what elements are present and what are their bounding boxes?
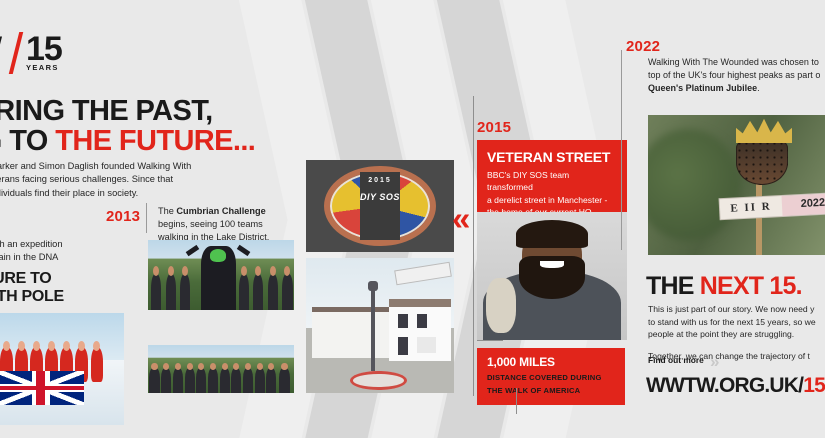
headline-line-1: OURING THE PAST, xyxy=(0,96,372,126)
roundel-mosaic: DIY SOS xyxy=(324,166,436,247)
next-15-heading-red: NEXT 15. xyxy=(700,272,802,300)
jubilee-bold: Queen's Platinum Jubilee xyxy=(648,83,757,93)
cumbrian-challenge-bold: Cumbrian Challenge xyxy=(176,206,265,216)
veteran-street-body-line-2: a derelict street in Manchester - xyxy=(487,195,607,205)
cumbrian-prefix: The xyxy=(158,206,176,216)
wwtw-logo: WALKING W WOUNDED 15 YEARS xyxy=(0,26,80,78)
cumbrian-challenge-photo-bottom xyxy=(148,345,294,393)
page-title: OURING THE PAST, ING TO THE FUTURE... xyxy=(0,96,372,156)
jubilee-sign-right: 2022 xyxy=(781,193,825,216)
jubilee-line-1: Walking With The Wounded was chosen to xyxy=(648,57,819,67)
jubilee-sign-left: E II R xyxy=(720,200,783,215)
miles-caption-line-1: DISTANCE COVERED DURING xyxy=(487,373,602,382)
veteran-street-body-line-1: BBC's DIY SOS team transformed xyxy=(487,170,569,192)
poster-canvas: WALKING W WOUNDED 15 YEARS OURING THE PA… xyxy=(0,0,825,438)
jubilee-line-2: top of the UK's four highest peaks as pa… xyxy=(648,70,820,80)
next-15-p1-line-3: people at the point they are struggling. xyxy=(648,329,794,339)
website-url-path: 15YEA xyxy=(803,374,825,397)
timeline-vertical-line-centre xyxy=(473,96,474,396)
timeline-year-2022: 2022 xyxy=(626,38,660,55)
photo-hair xyxy=(516,220,588,248)
logo-anniversary-years-label: YEARS xyxy=(26,63,62,72)
miles-stat-value: 1,000 MILES xyxy=(487,355,615,369)
photo-smile xyxy=(540,261,564,269)
cumbrian-line-2: begins, seeing 100 teams xyxy=(158,219,263,229)
jubilee-beacon-photo: E II R 2022 xyxy=(648,115,825,255)
intro-line-1: rans Ed Parker and Simon Daglish founded… xyxy=(0,160,286,173)
veteran-portrait-photo xyxy=(477,212,627,340)
next-15-body: This is just part of our story. We now n… xyxy=(648,303,825,362)
photo-beacon-basket xyxy=(736,140,788,185)
logo-anniversary-number: 15 xyxy=(26,32,62,66)
timeline-year-2015: 2015 xyxy=(477,119,511,136)
photo-beacon-pole xyxy=(756,179,762,255)
timeline-text-2013: The Cumbrian Challenge begins, seeing 10… xyxy=(158,205,298,245)
find-out-more-label[interactable]: Find out more xyxy=(648,355,704,365)
diy-sos-roundel-photo: DIY SOS xyxy=(306,160,454,252)
cumbrian-challenge-photo-top xyxy=(148,240,294,310)
intro-line-2: power veterans facing serious challenges… xyxy=(0,173,286,186)
photo-terrace-row-right xyxy=(389,299,451,361)
intro-paragraph: rans Ed Parker and Simon Daglish founded… xyxy=(0,160,286,200)
next-15-heading-dark: THE xyxy=(646,272,700,300)
veteran-street-title: VETERAN STREET xyxy=(487,149,617,165)
photo-celebrating-walker xyxy=(201,246,236,310)
headline-line-2-dark: ING TO xyxy=(0,125,55,157)
next-15-p1-line-2: to stand with us for the next 15 years, … xyxy=(648,317,816,327)
timeline-tick-2018 xyxy=(477,340,503,341)
timeline-year-2018: 2018 xyxy=(477,392,509,408)
north-pole-photo xyxy=(0,313,124,425)
union-jack-flag-icon xyxy=(0,371,84,405)
website-url[interactable]: WWTW.ORG.UK/15YEA xyxy=(646,374,825,398)
next-15-paragraph-1: This is just part of our story. We now n… xyxy=(648,303,825,341)
headline-line-2-red: THE FUTURE... xyxy=(55,125,255,157)
divider-2013 xyxy=(146,203,147,233)
logo-anniversary: 15 YEARS xyxy=(26,32,62,72)
intro-line-3: helping individuals find their place in … xyxy=(0,187,286,200)
veteran-street-photo xyxy=(306,258,454,393)
chevron-left-icon: « xyxy=(452,196,474,242)
next-15-p1-line-1: This is just part of our story. We now n… xyxy=(648,304,814,314)
website-url-domain: WWTW.ORG.UK/ xyxy=(646,374,803,397)
timeline-vertical-line-right xyxy=(621,50,622,250)
chevron-right-icon: » xyxy=(710,352,717,372)
photo-lamp-post xyxy=(371,288,375,372)
timeline-year-2013: 2013 xyxy=(106,208,140,225)
roundel-label: DIY SOS xyxy=(330,192,430,202)
jubilee-end: . xyxy=(757,83,760,93)
divider-2018 xyxy=(516,388,517,414)
timeline-text-2022: Walking With The Wounded was chosen to t… xyxy=(648,56,825,95)
next-15-heading: THE NEXT 15. xyxy=(646,272,802,301)
headline-line-2: ING TO THE FUTURE... xyxy=(0,126,372,156)
